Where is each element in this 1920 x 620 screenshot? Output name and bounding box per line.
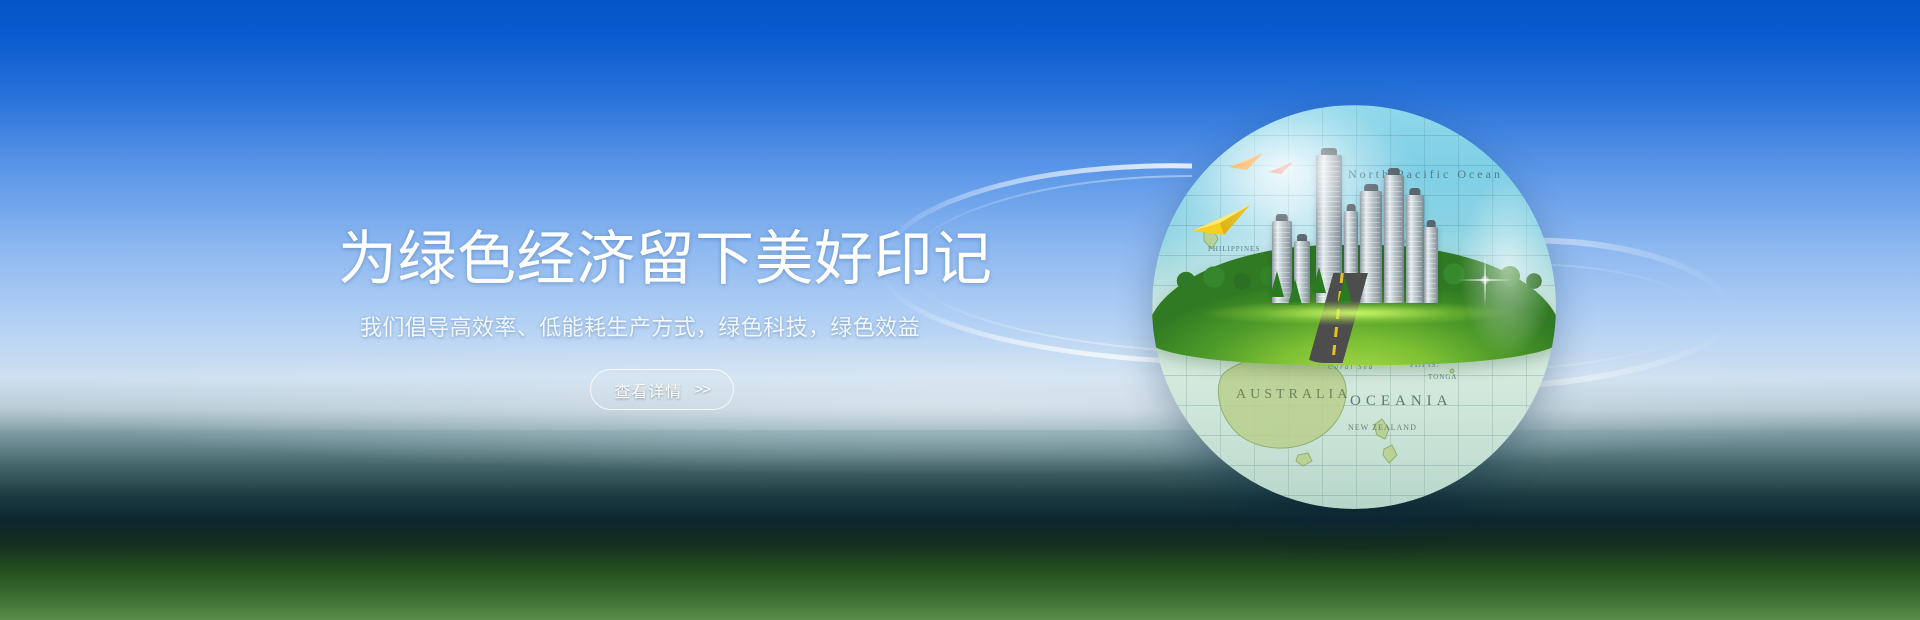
- orange-paper-plane-icon: [1228, 151, 1264, 171]
- map-label-new-zealand: NEW ZEALAND: [1348, 423, 1417, 432]
- banner-copy: 为绿色经济留下美好印记 我们倡导高效率、低能耗生产方式，绿色科技，绿色效益 查看…: [338, 224, 1038, 410]
- banner-headline: 为绿色经济留下美好印记: [338, 224, 1038, 294]
- map-label-tonga: TONGA: [1428, 373, 1457, 381]
- view-details-label: 查看详情: [614, 378, 682, 402]
- conifer-tree: [1270, 271, 1284, 297]
- globe-sphere: North Pacific Ocean OCEANIA AUSTRALIA NE…: [1152, 105, 1556, 509]
- cta-wrapper: 查看详情 >>: [590, 369, 1038, 410]
- conifer-tree: [1312, 267, 1326, 293]
- red-paper-plane-icon: [1268, 161, 1294, 175]
- eco-globe-illustration: North Pacific Ocean OCEANIA AUSTRALIA NE…: [1152, 105, 1556, 509]
- chevron-right-icon: >>: [694, 381, 710, 398]
- map-label-oceania: OCEANIA: [1350, 393, 1453, 410]
- view-details-button[interactable]: 查看详情 >>: [590, 369, 734, 410]
- conifer-tree: [1338, 277, 1352, 303]
- hero-banner: 为绿色经济留下美好印记 我们倡导高效率、低能耗生产方式，绿色科技，绿色效益 查看…: [0, 0, 1920, 620]
- yellow-paper-plane-icon: [1190, 203, 1252, 237]
- hill-edge-glow: [1152, 301, 1556, 331]
- ground-haze: [0, 430, 1920, 520]
- map-label-australia: AUSTRALIA: [1236, 387, 1351, 403]
- globe-map-surface: North Pacific Ocean OCEANIA AUSTRALIA NE…: [1152, 105, 1556, 509]
- banner-subheadline: 我们倡导高效率、低能耗生产方式，绿色科技，绿色效益: [360, 313, 1038, 343]
